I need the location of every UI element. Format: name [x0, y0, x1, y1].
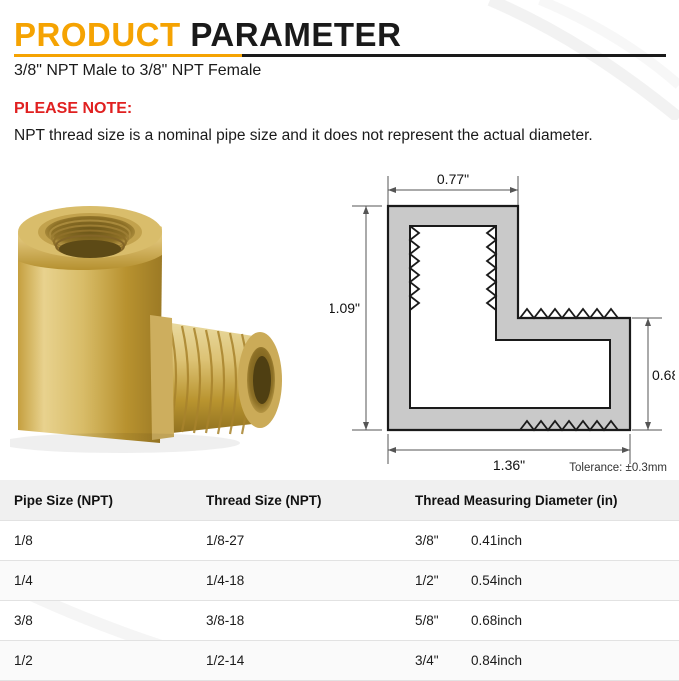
cell-thread-size: 3/8-18: [200, 613, 415, 628]
technical-drawing: 0.77" 1.09" 0.: [330, 168, 675, 478]
cell-pipe-size: 1/4: [0, 573, 200, 588]
cell-measuring-fraction: 3/8": [415, 533, 471, 548]
dim-right-label: 0.68": [652, 367, 675, 383]
table-row: 3/8 3/8-18 5/8"0.68inch: [0, 601, 679, 640]
note-text: NPT thread size is a nominal pipe size a…: [14, 125, 674, 147]
cell-measuring-inch: 0.41inch: [471, 533, 522, 548]
cell-thread-size: 1/4-18: [200, 573, 415, 588]
cell-measuring-diameter: 3/4"0.84inch: [415, 653, 679, 668]
cell-measuring-fraction: 1/2": [415, 573, 471, 588]
cell-measuring-inch: 0.54inch: [471, 573, 522, 588]
column-header-thread-size: Thread Size (NPT): [200, 493, 415, 508]
cell-measuring-inch: 0.68inch: [471, 613, 522, 628]
page-title-part2: PARAMETER: [190, 16, 401, 53]
cell-measuring-diameter: 1/2"0.54inch: [415, 573, 679, 588]
cell-thread-size: 1/2-14: [200, 653, 415, 668]
product-parameter-page: PRODUCT PARAMETER 3/8" NPT Male to 3/8" …: [0, 0, 679, 679]
cell-measuring-diameter: 5/8"0.68inch: [415, 613, 679, 628]
dim-left-label: 1.09": [330, 300, 360, 316]
page-title-part1: PRODUCT: [14, 16, 181, 53]
column-header-thread-measuring-diameter: Thread Measuring Diameter (in): [415, 493, 679, 508]
table-row: 1/2 1/2-14 3/4"0.84inch: [0, 641, 679, 680]
column-header-pipe-size: Pipe Size (NPT): [0, 493, 200, 508]
note-label: PLEASE NOTE:: [14, 100, 132, 118]
dim-top-label: 0.77": [437, 171, 469, 187]
dim-bottom-label: 1.36": [493, 457, 525, 473]
parameter-table: Pipe Size (NPT) Thread Size (NPT) Thread…: [0, 480, 679, 681]
title-divider: [14, 54, 666, 57]
page-title: PRODUCT PARAMETER: [14, 16, 401, 54]
table-row: 1/8 1/8-27 3/8"0.41inch: [0, 521, 679, 560]
cell-measuring-fraction: 5/8": [415, 613, 471, 628]
cell-pipe-size: 1/8: [0, 533, 200, 548]
page-subtitle: 3/8" NPT Male to 3/8" NPT Female: [14, 62, 261, 80]
table-row: 1/4 1/4-18 1/2"0.54inch: [0, 561, 679, 600]
tolerance-note: Tolerance: ±0.3mm: [569, 462, 667, 474]
corner-swoosh-top-right: [470, 0, 679, 120]
cell-thread-size: 1/8-27: [200, 533, 415, 548]
cell-pipe-size: 3/8: [0, 613, 200, 628]
cell-pipe-size: 1/2: [0, 653, 200, 668]
cell-measuring-diameter: 3/8"0.41inch: [415, 533, 679, 548]
table-header-row: Pipe Size (NPT) Thread Size (NPT) Thread…: [0, 480, 679, 520]
cell-measuring-inch: 0.84inch: [471, 653, 522, 668]
cell-measuring-fraction: 3/4": [415, 653, 471, 668]
product-photo: [10, 185, 340, 455]
